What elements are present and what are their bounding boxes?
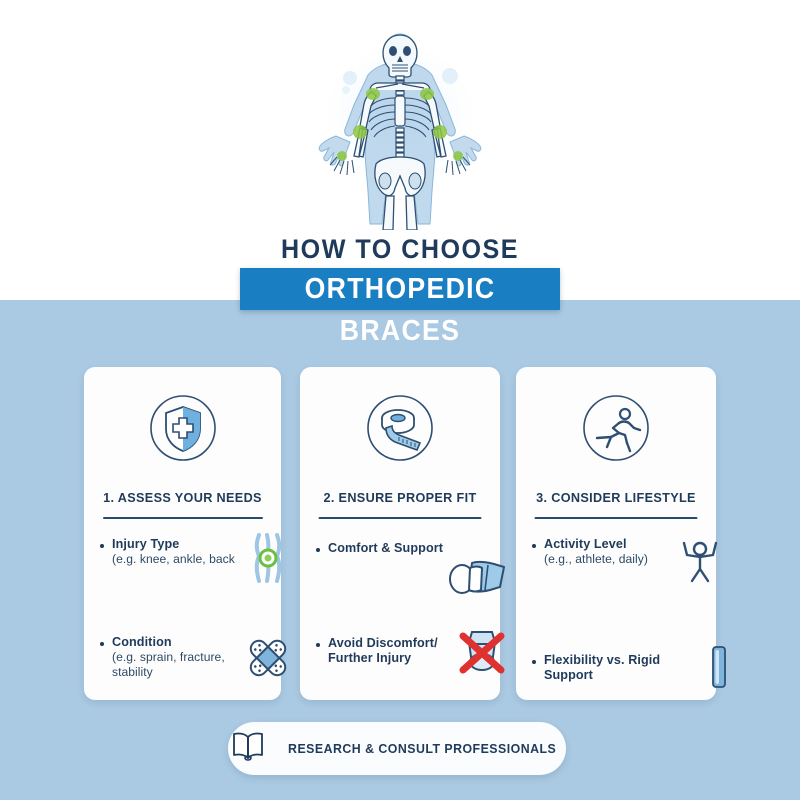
bullet-dot <box>100 642 104 646</box>
card-consider-lifestyle[interactable]: 3. CONSIDER LIFESTYLE Activity Level (e.… <box>516 367 716 700</box>
bullet-dot <box>100 544 104 548</box>
brace-crossed-out-icon <box>454 622 510 683</box>
card-title: 2. ENSURE PROPER FIT <box>304 490 496 505</box>
card-bullet-list: Activity Level (e.g., athlete, daily) <box>516 537 716 597</box>
footer-cta-label: RESEARCH & CONSULT PROFESSIONALS <box>288 741 556 756</box>
knee-joint-icon <box>247 533 291 588</box>
card-divider <box>103 517 263 519</box>
bullet-dot <box>532 544 536 548</box>
page-title-bar: ORTHOPEDIC BRACES <box>240 268 560 310</box>
page-title: ORTHOPEDIC BRACES <box>253 268 547 352</box>
footer-cta-pill[interactable]: RESEARCH & CONSULT PROFESSIONALS <box>228 722 566 775</box>
bullet-subtitle: (e.g. knee, ankle, back <box>112 552 267 567</box>
page-kicker: HOW TO CHOOSE <box>28 234 772 265</box>
shield-medical-cross-icon <box>84 393 281 463</box>
list-item: Avoid Discomfort/ Further Injury <box>300 636 500 666</box>
open-book-icon <box>231 730 265 767</box>
list-item: Flexibility vs. Rigid Support <box>516 653 716 683</box>
arm-brace-icon <box>442 559 508 608</box>
card-divider <box>535 517 698 519</box>
list-item: Activity Level (e.g., athlete, daily) <box>516 537 716 567</box>
rigid-support-bar-icon <box>710 645 728 694</box>
card-divider <box>319 517 482 519</box>
bullet-title: Comfort & Support <box>328 541 486 556</box>
running-person-icon <box>516 393 716 463</box>
list-item: Injury Type (e.g. knee, ankle, back <box>84 537 281 567</box>
tape-measure-icon <box>300 393 500 463</box>
bullet-title: Flexibility vs. Rigid Support <box>544 653 702 683</box>
card-title: 3. CONSIDER LIFESTYLE <box>520 490 712 505</box>
card-bullet-list: Comfort & Support Avoid Discomfort/ <box>300 537 500 582</box>
crossed-bandages-icon <box>243 633 293 688</box>
card-title: 1. ASSESS YOUR NEEDS <box>88 490 277 505</box>
list-item: Comfort & Support <box>300 541 500 556</box>
card-ensure-proper-fit[interactable]: 2. ENSURE PROPER FIT Comfort & Support <box>300 367 500 700</box>
card-assess-your-needs[interactable]: 1. ASSESS YOUR NEEDS Injury Type (e.g. k… <box>84 367 281 700</box>
list-item: Condition (e.g. sprain, fracture, stabil… <box>84 635 281 680</box>
bullet-title: Injury Type <box>112 537 267 552</box>
bullet-dot <box>532 660 536 664</box>
bullet-dot <box>316 643 320 647</box>
infographic-canvas: HOW TO CHOOSE ORTHOPEDIC BRACES 1. ASSES… <box>0 0 800 800</box>
bullet-dot <box>316 548 320 552</box>
skeleton-illustration <box>310 18 490 230</box>
active-person-icon <box>678 535 722 588</box>
card-bullet-list: Injury Type (e.g. knee, ankle, back <box>84 537 281 612</box>
